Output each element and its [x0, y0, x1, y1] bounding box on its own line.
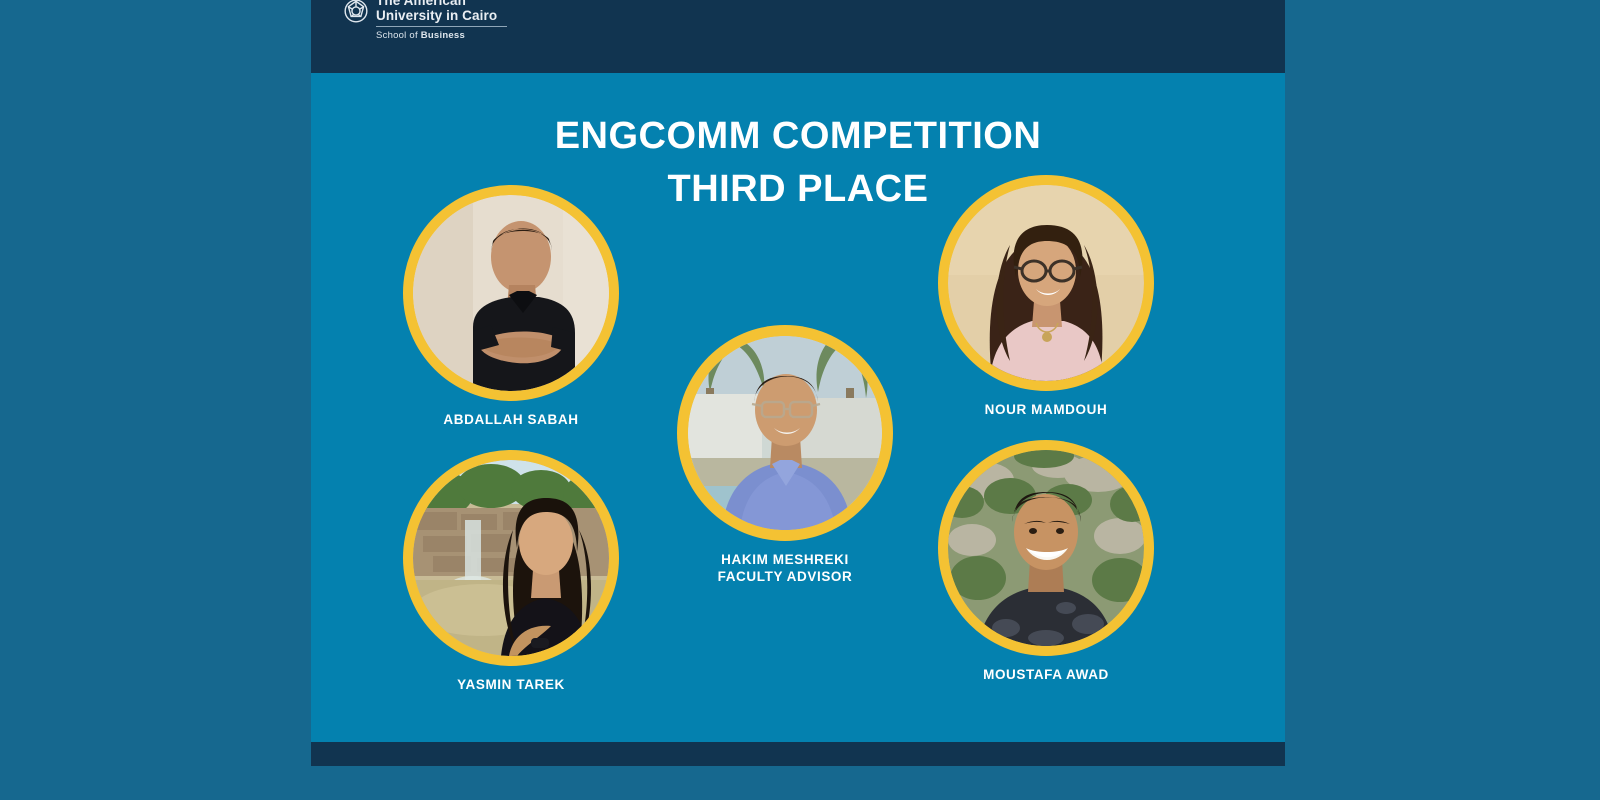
portrait-ring: [403, 450, 619, 666]
auc-logo-lockup: The American University in Cairo School …: [343, 0, 507, 41]
logo-divider: [376, 26, 507, 27]
person-role-hakim: FACULTY ADVISOR: [718, 569, 853, 584]
avatar-nour: [948, 185, 1144, 381]
person-card-yasmin: YASMIN TAREK: [389, 450, 633, 693]
avatar-abdallah: [413, 195, 609, 391]
person-name-abdallah: ABDALLAH SABAH: [389, 411, 633, 428]
poster-card: The American University in Cairo School …: [311, 0, 1285, 766]
headline-line-1: ENGCOMM COMPETITION: [555, 115, 1042, 157]
person-card-moustafa: MOUSTAFA AWAD: [928, 440, 1164, 683]
poster-canvas: The American University in Cairo School …: [0, 0, 1600, 800]
logo-subtitle: School of Business: [376, 30, 507, 41]
auc-crest-icon: [343, 0, 369, 24]
person-name-hakim-text: HAKIM MESHREKI: [721, 552, 849, 567]
auc-logo-text: The American University in Cairo School …: [376, 0, 507, 41]
person-name-yasmin: YASMIN TAREK: [389, 676, 633, 693]
portrait-ring: [403, 185, 619, 401]
avatar-yasmin: [413, 460, 609, 656]
portrait-ring: [938, 175, 1154, 391]
person-card-hakim: HAKIM MESHREKI FACULTY ADVISOR: [668, 325, 902, 585]
portrait-ring: [938, 440, 1154, 656]
person-card-nour: NOUR MAMDOUH: [928, 175, 1164, 418]
logo-line-2: University in Cairo: [376, 9, 507, 24]
portrait-ring: [677, 325, 893, 541]
person-name-moustafa: MOUSTAFA AWAD: [928, 666, 1164, 683]
person-name-nour: NOUR MAMDOUH: [928, 401, 1164, 418]
footer-band: [311, 742, 1285, 766]
logo-subtitle-bold: Business: [421, 30, 465, 41]
person-card-abdallah: ABDALLAH SABAH: [389, 185, 633, 428]
avatar-moustafa: [948, 450, 1144, 646]
logo-subtitle-prefix: School of: [376, 30, 421, 41]
avatar-hakim: [688, 336, 882, 530]
person-name-hakim: HAKIM MESHREKI FACULTY ADVISOR: [668, 551, 902, 585]
